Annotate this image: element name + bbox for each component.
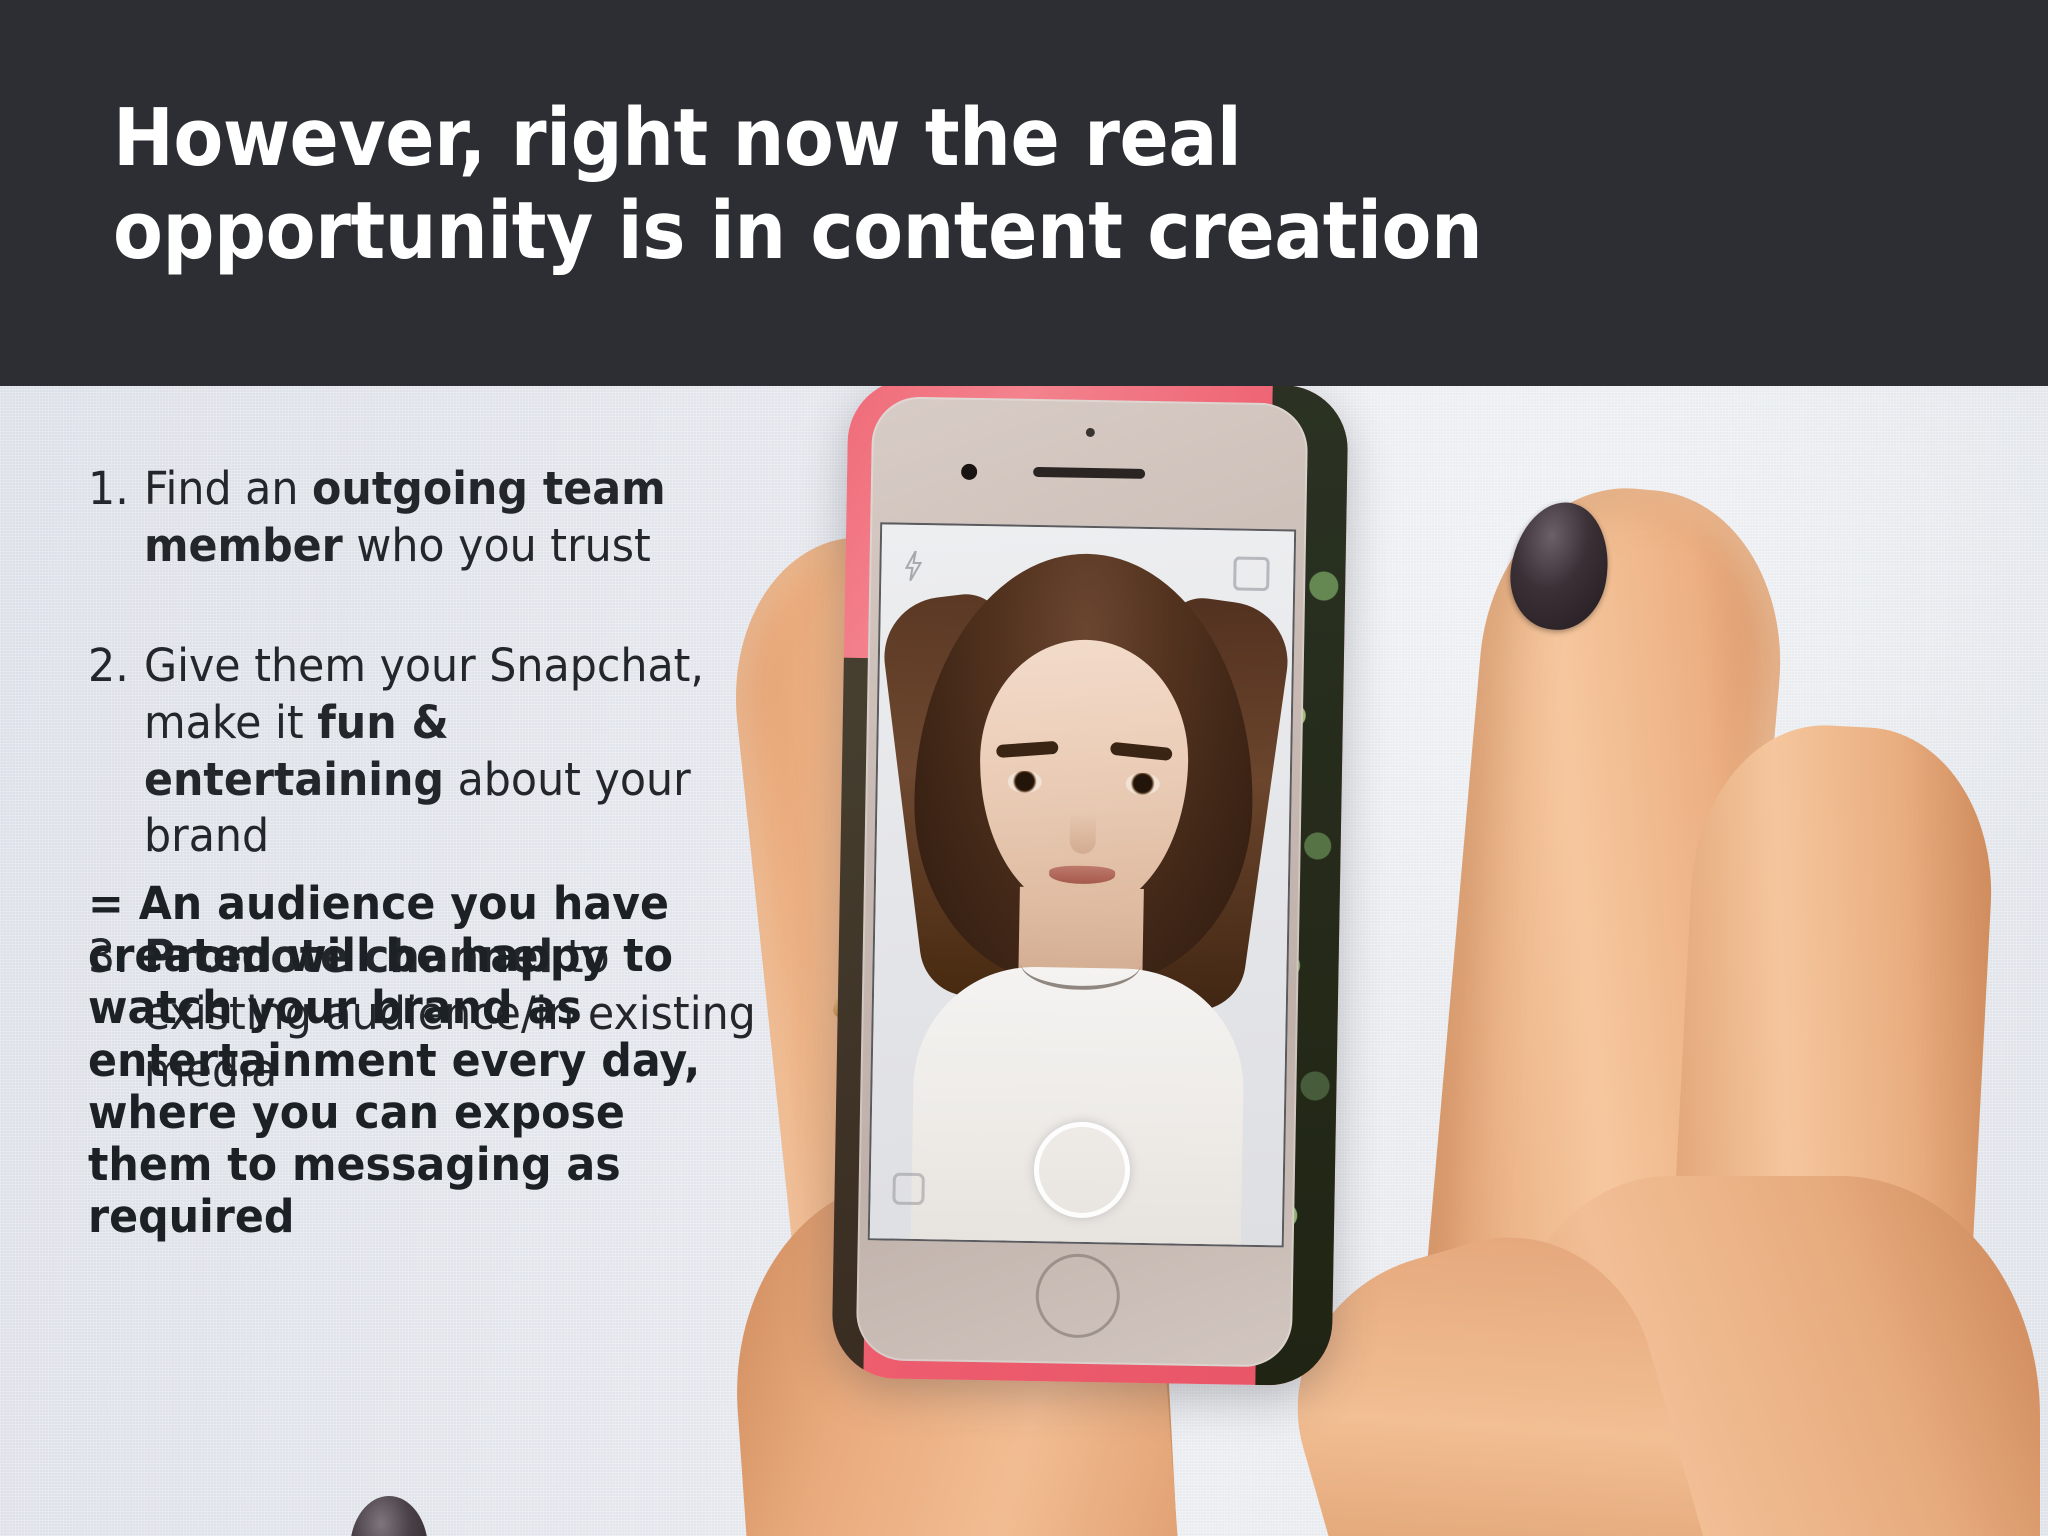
phone-screen[interactable] bbox=[868, 522, 1296, 1247]
photo-hands-holding-phone bbox=[690, 386, 2048, 1536]
phone-case bbox=[831, 386, 1348, 1386]
camera-flip-icon[interactable] bbox=[1233, 556, 1270, 591]
step-text: Find an outgoing team member who you tru… bbox=[144, 461, 756, 574]
flash-icon[interactable] bbox=[903, 551, 924, 581]
phone-earpiece-speaker bbox=[1033, 467, 1145, 479]
slide-title: However, right now the real opportunity … bbox=[113, 92, 1493, 278]
phone-sensor-dot bbox=[1086, 428, 1095, 437]
phone-body bbox=[856, 396, 1309, 1367]
step-tail: who you trust bbox=[343, 519, 651, 572]
right-hand bbox=[1250, 476, 2048, 1536]
list-item: 1. Find an outgoing team member who you … bbox=[88, 461, 788, 574]
selfie-nose bbox=[1069, 814, 1096, 854]
smartphone bbox=[831, 386, 1348, 1386]
bottom-fingernail bbox=[350, 1496, 428, 1536]
home-button[interactable] bbox=[1035, 1253, 1120, 1338]
front-camera-lens-icon bbox=[961, 464, 977, 480]
presentation-slide: However, right now the real opportunity … bbox=[0, 0, 2048, 1536]
step-lead: Find an bbox=[144, 462, 312, 515]
step-number: 1. bbox=[88, 461, 141, 518]
selfie-eye-left bbox=[1008, 771, 1042, 794]
step-text: Give them your Snapchat, make it fun & e… bbox=[144, 638, 756, 865]
step-number: 2. bbox=[88, 638, 141, 695]
selfie-eye-right bbox=[1126, 773, 1160, 796]
slide-header-bar: However, right now the real opportunity … bbox=[0, 0, 2048, 386]
gallery-icon[interactable] bbox=[892, 1173, 925, 1206]
summary-conclusion-text: = An audience you have created will be h… bbox=[88, 878, 706, 1243]
list-item: 2. Give them your Snapchat, make it fun … bbox=[88, 638, 788, 865]
